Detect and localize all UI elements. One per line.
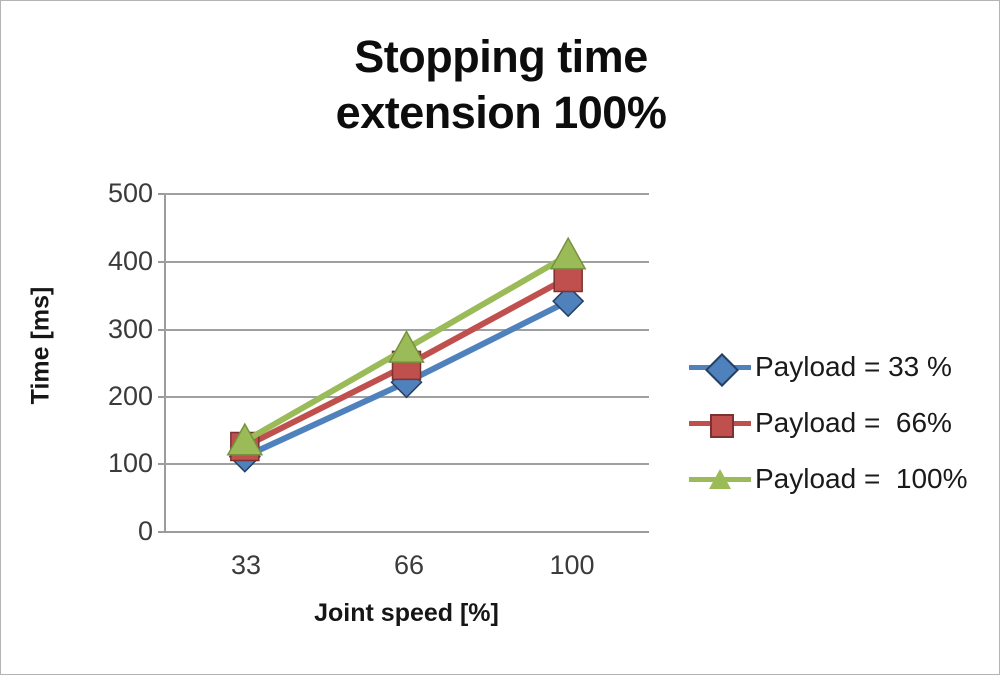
- diamond-marker-icon: [705, 353, 739, 387]
- legend-item-payload-33[interactable]: Payload = 33 %: [689, 339, 989, 395]
- x-axis-title: Joint speed [%]: [164, 599, 649, 628]
- chart-title: Stopping time extension 100%: [1, 29, 1000, 141]
- square-marker-icon: [710, 414, 734, 438]
- gridline-200: [164, 396, 649, 398]
- y-tick-label-500: 500: [93, 180, 153, 207]
- chart-title-line-1: Stopping time: [1, 29, 1000, 85]
- legend-swatch-green: [689, 466, 751, 492]
- y-tick-label-400: 400: [93, 248, 153, 275]
- chart-title-line-2: extension 100%: [1, 85, 1000, 141]
- x-tick-label-33: 33: [186, 552, 306, 579]
- legend-swatch-blue: [689, 354, 751, 380]
- chart-legend: Payload = 33 % Payload = 66% Payload = 1…: [689, 339, 989, 507]
- legend-label-payload-33: Payload = 33 %: [755, 352, 952, 382]
- chart-page: Stopping time extension 100% 500 400 300…: [0, 0, 1000, 675]
- gridline-300: [164, 329, 649, 331]
- legend-item-payload-66[interactable]: Payload = 66%: [689, 395, 989, 451]
- legend-item-payload-100[interactable]: Payload = 100%: [689, 451, 989, 507]
- gridline-100: [164, 463, 649, 465]
- gridline-500: [164, 193, 649, 195]
- y-tick-label-200: 200: [93, 383, 153, 410]
- y-tick-label-100: 100: [93, 450, 153, 477]
- y-axis-title: Time [ms]: [27, 266, 56, 426]
- x-tick-label-66: 66: [349, 552, 469, 579]
- legend-label-payload-66: Payload = 66%: [755, 408, 952, 438]
- y-tick-label-0: 0: [93, 518, 153, 545]
- gridline-400: [164, 261, 649, 263]
- triangle-marker-icon: [709, 469, 731, 489]
- legend-swatch-red: [689, 410, 751, 436]
- plot-area: [164, 193, 649, 532]
- y-tick-label-300: 300: [93, 316, 153, 343]
- legend-label-payload-100: Payload = 100%: [755, 464, 968, 494]
- x-tick-label-100: 100: [512, 552, 632, 579]
